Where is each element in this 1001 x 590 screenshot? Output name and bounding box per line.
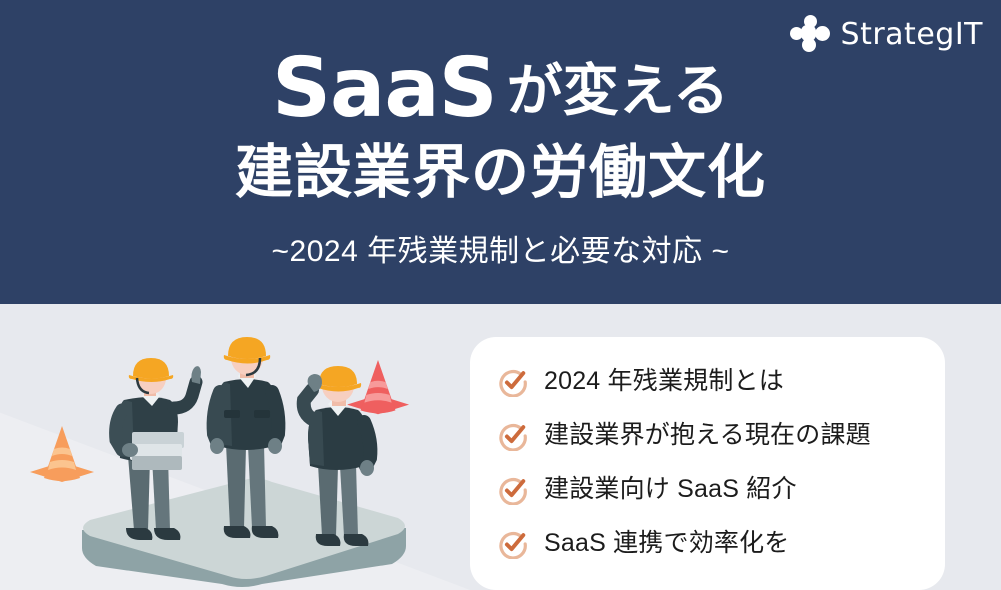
list-item[interactable]: 建設業界が抱える現在の課題 xyxy=(498,408,928,462)
title-line-1-suffix: が変える xyxy=(507,59,729,122)
title-line-2: 建設業界の労働文化 xyxy=(0,144,1001,202)
slide-root: StrategIT SaaSが変える 建設業界の労働文化 ~2024 年残業規制… xyxy=(0,0,1001,590)
title-block: SaaSが変える 建設業界の労働文化 ~2024 年残業規制と必要な対応 ~ xyxy=(0,48,1001,270)
title-line-1: SaaSが変える xyxy=(0,48,1001,130)
content-area: 2024 年残業規制とは 建設業界が抱える現在の課題 建設業向け SaaS 紹介 xyxy=(0,304,1001,590)
header-banner: StrategIT SaaSが変える 建設業界の労働文化 ~2024 年残業規制… xyxy=(0,0,1001,304)
construction-workers-illustration xyxy=(0,304,470,590)
list-item[interactable]: 2024 年残業規制とは xyxy=(498,354,928,408)
list-item[interactable]: SaaS 連携で効率化を xyxy=(498,516,928,570)
worker-standing-center xyxy=(196,332,300,550)
checklist: 2024 年残業規制とは 建設業界が抱える現在の課題 建設業向け SaaS 紹介 xyxy=(498,354,928,570)
checklist-card: 2024 年残業規制とは 建設業界が抱える現在の課題 建設業向け SaaS 紹介 xyxy=(470,337,945,590)
page-subtitle: ~2024 年残業規制と必要な対応 ~ xyxy=(0,226,1001,270)
list-item[interactable]: 建設業向け SaaS 紹介 xyxy=(498,462,928,516)
check-circle-icon xyxy=(498,529,528,559)
check-circle-icon xyxy=(498,367,528,397)
list-item-label: 2024 年残業規制とは xyxy=(544,369,784,394)
list-item-label: 建設業向け SaaS 紹介 xyxy=(544,477,797,502)
check-circle-icon xyxy=(498,475,528,505)
title-saas-word: SaaS xyxy=(272,41,497,136)
list-item-label: SaaS 連携で効率化を xyxy=(544,531,790,556)
check-circle-icon xyxy=(498,421,528,451)
worker-pointing-with-clipboard xyxy=(96,352,208,552)
worker-on-phone xyxy=(290,364,390,556)
traffic-cone-orange-icon xyxy=(28,420,96,496)
brand-logo-text: StrategIT xyxy=(841,17,983,52)
list-item-label: 建設業界が抱える現在の課題 xyxy=(544,423,871,448)
